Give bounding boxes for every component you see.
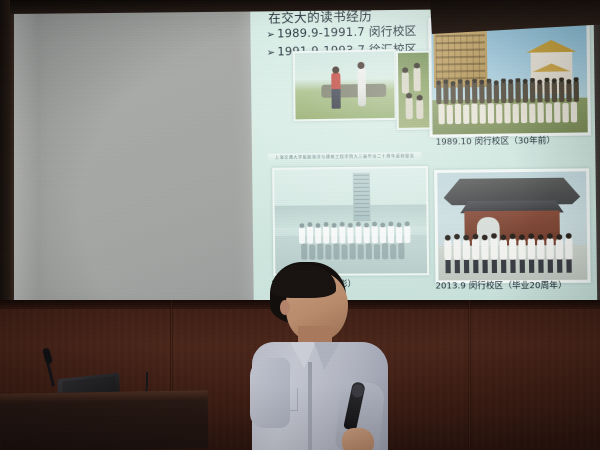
photo-person-red-shirt: [331, 72, 341, 108]
slide-bullet-1-text: 1989.9-1991.7 闵行校区: [277, 23, 417, 40]
slide-photo-graduation-xuhui: [272, 166, 429, 276]
photo-crowd: [297, 217, 415, 262]
wood-seam: [468, 300, 471, 450]
photo-crowd: [434, 77, 586, 126]
slide-photo-gate-group-2013: [434, 168, 591, 283]
slide-photo-vintage-group-pagoda: [428, 15, 591, 138]
presenter-shirt-placket: [308, 362, 312, 450]
presenter-sleeve: [250, 358, 290, 428]
presenter-ear: [280, 300, 290, 315]
wall-left-edge: [0, 0, 14, 330]
photo-person-white: [357, 68, 366, 106]
slide-bullet-1: ➢1989.9-1991.7 闵行校区: [266, 22, 416, 41]
presenter-hand: [342, 428, 374, 450]
photo-caption-vintage: 1989.10 闵行校区（30年前）: [436, 134, 556, 148]
bullet-arrow-icon: ➢: [266, 30, 275, 41]
photo-figures: [398, 53, 430, 128]
photo-tower-building: [353, 173, 371, 222]
slide-photo-narrow-strip: [396, 51, 432, 130]
slide-banner-text: 上海交通大学船舶海洋与建筑工程学院九三届毕业二十周年返校留念: [268, 152, 422, 162]
bullet-arrow-icon: ➢: [267, 48, 276, 59]
screen-left-highlight: [12, 6, 38, 328]
photo-caption-gate-2013: 2013.9 闵行校区（毕业20周年）: [435, 279, 566, 292]
lecture-hall-photo: 在交大的读书经历 ➢1989.9-1991.7 闵行校区 ➢1991.9-199…: [0, 0, 600, 450]
slide-banner-strip: 上海交通大学船舶海洋与建筑工程学院九三届毕业二十周年返校留念: [268, 152, 422, 162]
photo-crowd: [442, 233, 583, 274]
slide-photo-two-people-outdoors: [293, 49, 397, 121]
presenter: [246, 262, 396, 450]
lectern: [0, 390, 208, 450]
